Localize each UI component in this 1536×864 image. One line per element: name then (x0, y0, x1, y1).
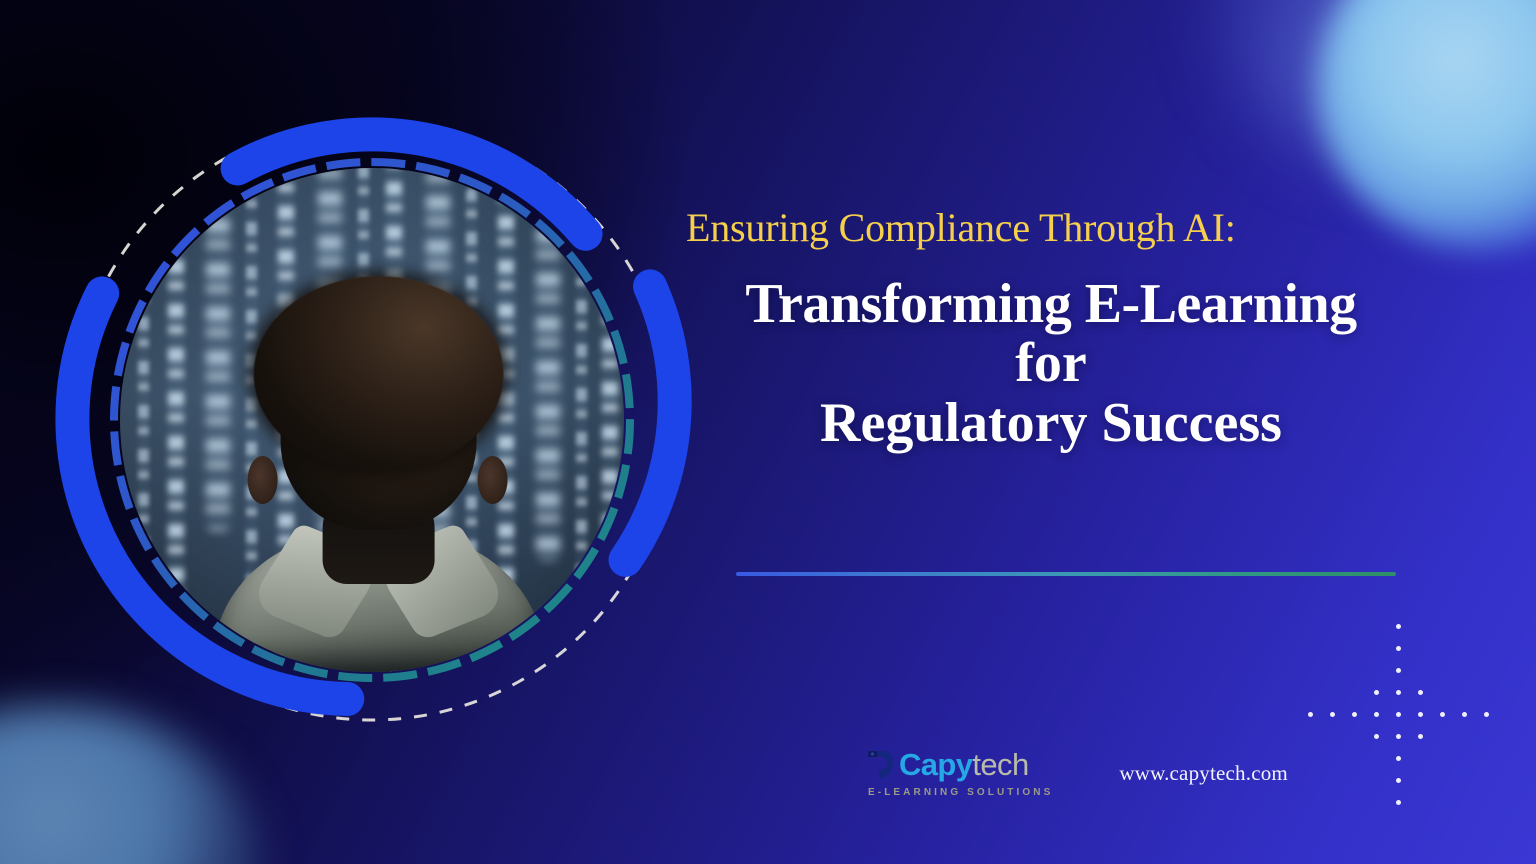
brand-logo[interactable]: Capytech E-LEARNING SOLUTIONS (866, 748, 1053, 798)
arc-top (238, 134, 586, 233)
page-title: Transforming E-Learning for Regulatory S… (686, 275, 1416, 453)
arc-left (72, 293, 347, 699)
dot-grid-decoration (1296, 612, 1496, 812)
eyebrow-text: Ensuring Compliance Through AI: (686, 206, 1416, 251)
website-url[interactable]: www.capytech.com (1119, 761, 1288, 786)
brand-name-secondary: tech (972, 747, 1028, 782)
promo-banner: Ensuring Compliance Through AI: Transfor… (0, 0, 1536, 864)
title-line-2: for (686, 334, 1416, 393)
brand-wordmark: Capytech (899, 749, 1029, 780)
brand-name-primary: Capy (899, 747, 972, 782)
ring-decorations (40, 88, 704, 752)
inner-dashed-ring (114, 162, 630, 678)
brand-tagline: E-LEARNING SOLUTIONS (868, 787, 1053, 798)
footer-bar: Capytech E-LEARNING SOLUTIONS www.capyte… (866, 748, 1288, 798)
text-column: Ensuring Compliance Through AI: Transfor… (686, 206, 1416, 453)
title-line-3: Regulatory Success (686, 394, 1416, 453)
capytech-shield-icon (866, 748, 894, 780)
circular-visual (40, 88, 704, 752)
title-line-1: Transforming E-Learning (686, 275, 1416, 334)
title-divider (736, 572, 1396, 576)
